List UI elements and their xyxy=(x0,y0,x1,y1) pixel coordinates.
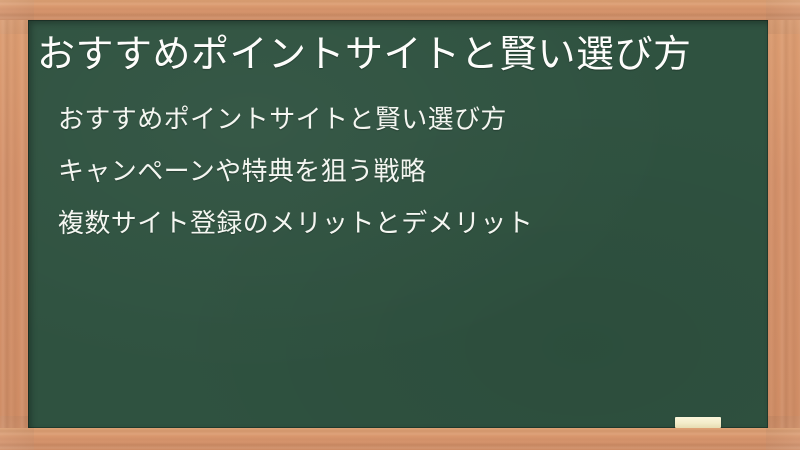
slide-title: おすすめポイントサイトと賢い選び方 xyxy=(37,32,759,78)
slide-body-line: キャンペーンや特典を狙う戦略 xyxy=(58,158,748,184)
frame-corner-bottom-right xyxy=(766,416,800,450)
frame-corner-top-right xyxy=(766,0,800,34)
slide-body-line: おすすめポイントサイトと賢い選び方 xyxy=(58,106,748,132)
slide-body-line: 複数サイト登録のメリットとデメリット xyxy=(58,210,748,236)
chalkboard-slide: おすすめポイントサイトと賢い選び方 おすすめポイントサイトと賢い選び方 キャンペ… xyxy=(0,0,800,450)
wooden-frame-bottom-rail xyxy=(0,428,800,450)
slide-body-list: おすすめポイントサイトと賢い選び方 キャンペーンや特典を狙う戦略 複数サイト登録… xyxy=(58,106,748,236)
chalkboard-surface: おすすめポイントサイトと賢い選び方 おすすめポイントサイトと賢い選び方 キャンペ… xyxy=(28,20,768,428)
wooden-frame-top-rail xyxy=(0,0,800,20)
chalk-stick-icon xyxy=(675,417,721,428)
